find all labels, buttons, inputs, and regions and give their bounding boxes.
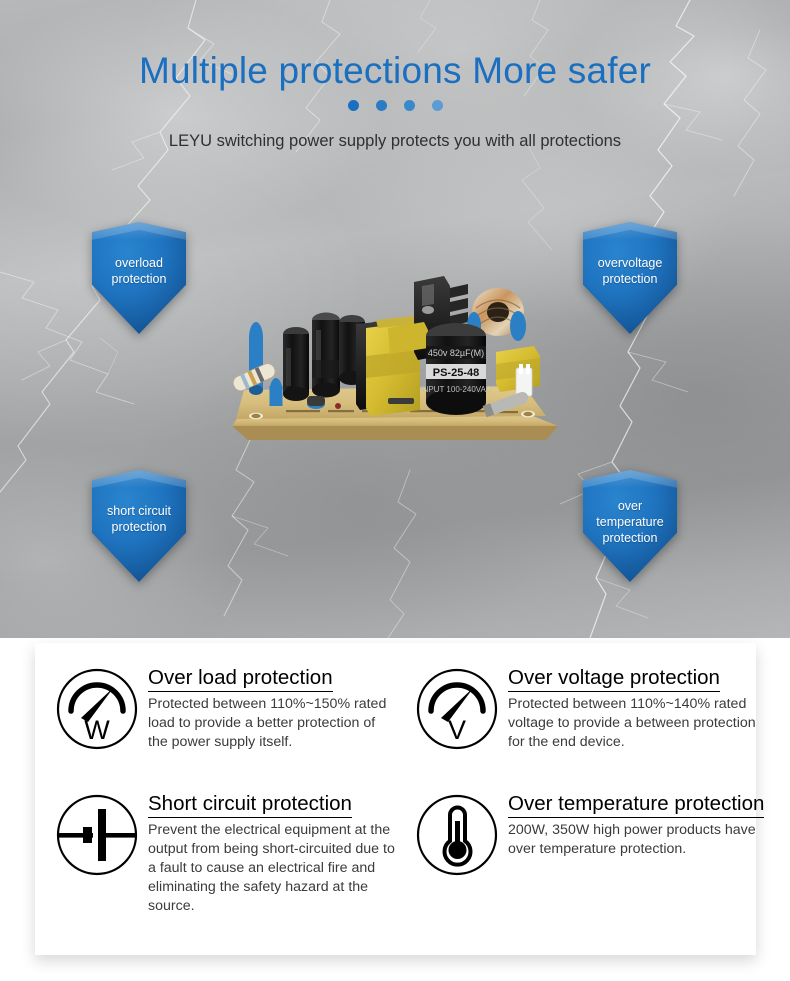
feature-over-voltage: V Over voltage protection Protected betw… xyxy=(395,665,756,791)
product-photo-pcb: PS-25-48 450v 82µF(M) INPUT 100-240VAC xyxy=(228,264,566,449)
feature-title: Short circuit protection xyxy=(148,791,352,818)
shield-label: over temperature protection xyxy=(596,498,663,554)
hero-storm-background: Multiple protections More safer LEYU swi… xyxy=(0,0,790,638)
feature-description: Prevent the electrical equipment at the … xyxy=(148,821,395,916)
svg-text:INPUT 100-240VAC: INPUT 100-240VAC xyxy=(420,385,492,394)
gauge-letter: W xyxy=(84,715,110,745)
dot-2 xyxy=(376,100,387,111)
page-title: Multiple protections More safer xyxy=(0,48,790,94)
shield-label-line: protection xyxy=(596,530,663,546)
decorative-dots xyxy=(0,100,790,111)
shield-label: overvoltage protection xyxy=(598,255,663,301)
feature-text: Short circuit protection Prevent the ele… xyxy=(148,791,395,916)
feature-description: Protected between 110%~150% rated load t… xyxy=(148,695,395,752)
shield-label-line: overload xyxy=(112,255,167,271)
shield-badge-over-temperature: over temperature protection xyxy=(583,470,677,582)
shield-badge-short-circuit: short circuit protection xyxy=(92,470,186,582)
shield-label-line: protection xyxy=(107,519,171,535)
shield-badge-overload: overload protection xyxy=(92,222,186,334)
gauge-letter: V xyxy=(448,715,466,745)
features-panel: W Over load protection Protected between… xyxy=(35,643,756,955)
dot-1 xyxy=(348,100,359,111)
feature-over-temperature: Over temperature protection 200W, 350W h… xyxy=(395,791,756,955)
shield-label-line: short circuit xyxy=(107,503,171,519)
shield-label-line: protection xyxy=(112,271,167,287)
feature-text: Over voltage protection Protected betwee… xyxy=(508,665,756,752)
product-feature-banner: Multiple protections More safer LEYU swi… xyxy=(0,0,790,981)
shield-label: short circuit protection xyxy=(107,503,171,549)
feature-description: Protected between 110%~140% rated voltag… xyxy=(508,695,756,752)
page-subtitle: LEYU switching power supply protects you… xyxy=(0,132,790,151)
shield-label-line: overvoltage xyxy=(598,255,663,271)
features-grid: W Over load protection Protected between… xyxy=(35,643,756,955)
feature-text: Over temperature protection 200W, 350W h… xyxy=(508,791,756,859)
shield-label-line: over xyxy=(596,498,663,514)
dot-4 xyxy=(432,100,443,111)
thermometer-icon xyxy=(415,793,499,877)
capacitor-rating-label: 450v 82µF(M) xyxy=(428,348,484,358)
dot-3 xyxy=(404,100,415,111)
gauge-volt-icon: V xyxy=(415,667,499,751)
feature-title: Over load protection xyxy=(148,665,333,692)
feature-short-circuit: Short circuit protection Prevent the ele… xyxy=(35,791,395,955)
capacitor-model-label: PS-25-48 xyxy=(433,367,479,379)
gauge-watt-icon: W xyxy=(55,667,139,751)
short-circuit-icon xyxy=(55,793,139,877)
shield-label-line: temperature xyxy=(596,514,663,530)
shield-badge-overvoltage: overvoltage protection xyxy=(583,222,677,334)
shield-label: overload protection xyxy=(112,255,167,301)
feature-over-load: W Over load protection Protected between… xyxy=(35,665,395,791)
shield-label-line: protection xyxy=(598,271,663,287)
feature-text: Over load protection Protected between 1… xyxy=(148,665,395,752)
feature-description: 200W, 350W high power products have over… xyxy=(508,821,756,859)
feature-title: Over temperature protection xyxy=(508,791,764,818)
feature-title: Over voltage protection xyxy=(508,665,720,692)
